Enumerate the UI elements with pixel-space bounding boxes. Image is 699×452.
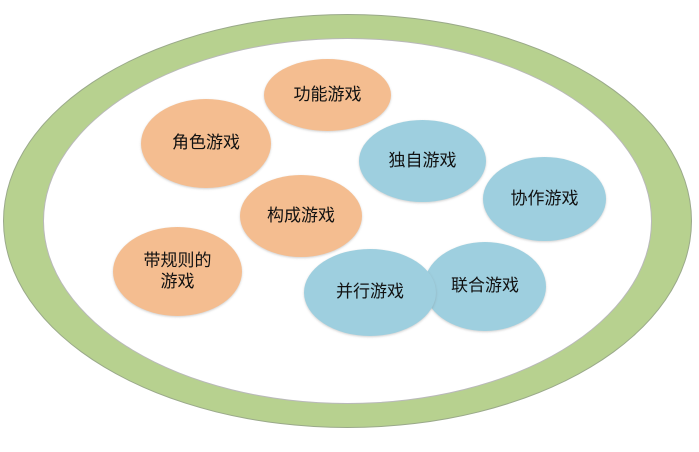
diagram-canvas: 功能游戏 角色游戏 构成游戏 带规则的 游戏 独自游戏 协作游戏 并行游戏 联合… [0, 0, 699, 452]
bubble-label-solitary-play: 独自游戏 [389, 151, 457, 171]
bubble-cooperative-play[interactable]: 协作游戏 [483, 157, 606, 241]
bubble-parallel-play[interactable]: 并行游戏 [304, 249, 436, 336]
bubble-label-construction-play: 构成游戏 [267, 206, 335, 226]
bubble-label-parallel-play: 并行游戏 [336, 282, 404, 302]
bubble-construction-play[interactable]: 构成游戏 [240, 175, 362, 257]
bubble-label-associative-play: 联合游戏 [451, 276, 519, 296]
bubble-label-functional-play: 功能游戏 [294, 85, 362, 105]
bubble-role-play[interactable]: 角色游戏 [141, 99, 271, 188]
bubble-solitary-play[interactable]: 独自游戏 [359, 120, 486, 202]
bubble-label-role-play: 角色游戏 [172, 133, 240, 153]
bubble-rule-based-play[interactable]: 带规则的 游戏 [113, 227, 242, 316]
bubble-associative-play[interactable]: 联合游戏 [424, 242, 546, 331]
bubble-functional-play[interactable]: 功能游戏 [264, 59, 391, 131]
bubble-label-rule-based-play: 带规则的 游戏 [144, 251, 212, 291]
bubble-label-cooperative-play: 协作游戏 [511, 189, 579, 209]
